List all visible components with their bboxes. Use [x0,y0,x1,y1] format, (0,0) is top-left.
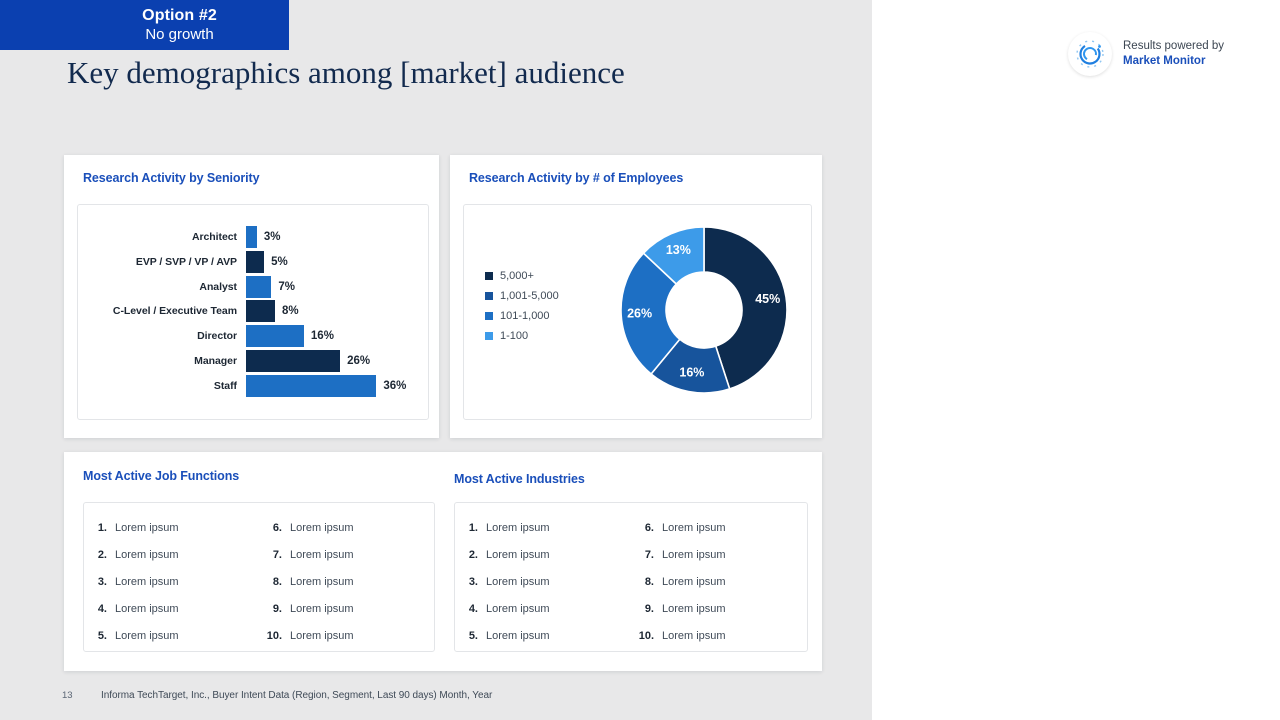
list-item-label: Lorem ipsum [290,576,354,588]
bar-row: C-Level / Executive Team8% [77,300,299,322]
donut-svg: 45%16%26%13% [609,215,799,405]
list-item-label: Lorem ipsum [486,549,550,561]
heading-most-active-industries: Most Active Industries [454,472,585,486]
legend-item: 101-1,000 [485,310,559,322]
list-item-label: Lorem ipsum [290,630,354,642]
list-item-number: 9. [258,603,290,615]
list-item-label: Lorem ipsum [290,549,354,561]
list-item[interactable]: 4.Lorem ipsum [454,595,630,622]
donut-value-label: 16% [679,366,704,380]
rank-column: 1.Lorem ipsum2.Lorem ipsum3.Lorem ipsum4… [83,502,258,650]
list-item[interactable]: 3.Lorem ipsum [454,568,630,595]
powered-by-brand: Market Monitor [1123,54,1224,69]
list-item-label: Lorem ipsum [115,630,179,642]
list-item-label: Lorem ipsum [290,603,354,615]
option-banner: Option #2 No growth [0,0,289,50]
rank-column: 6.Lorem ipsum7.Lorem ipsum8.Lorem ipsum9… [258,502,433,650]
list-item-label: Lorem ipsum [486,576,550,588]
list-item-number: 3. [454,576,486,588]
list-item-number: 2. [83,549,115,561]
list-item-number: 4. [454,603,486,615]
list-item-number: 7. [630,549,662,561]
bar-rect [246,276,271,298]
bar-category-label: Staff [77,380,246,392]
list-item[interactable]: 6.Lorem ipsum [630,514,806,541]
donut-legend: 5,000+1,001-5,000101-1,0001-100 [485,270,559,342]
list-item-label: Lorem ipsum [662,603,726,615]
list-item-label: Lorem ipsum [486,603,550,615]
donut-value-label: 45% [755,292,780,306]
list-item-number: 5. [454,630,486,642]
legend-label: 101-1,000 [500,310,550,322]
legend-item: 5,000+ [485,270,559,282]
list-item-label: Lorem ipsum [662,549,726,561]
option-banner-subtitle: No growth [145,25,213,44]
slide-canvas: Option #2 No growth Key demographics amo… [0,0,872,720]
bar-rect [246,350,340,372]
rank-column: 1.Lorem ipsum2.Lorem ipsum3.Lorem ipsum4… [454,502,630,650]
bar-row: Director16% [77,325,334,347]
heading-research-activity-by-employees: Research Activity by # of Employees [469,171,683,185]
list-item-number: 2. [454,549,486,561]
list-item-label: Lorem ipsum [115,603,179,615]
list-item[interactable]: 9.Lorem ipsum [630,595,806,622]
ranked-list-industries: 1.Lorem ipsum2.Lorem ipsum3.Lorem ipsum4… [454,502,806,650]
bar-rect [246,251,264,273]
bar-value-label: 3% [264,231,281,243]
bar-value-label: 5% [271,256,288,268]
list-item-label: Lorem ipsum [115,522,179,534]
bar-chart-seniority: Architect3%EVP / SVP / VP / AVP5%Analyst… [77,204,427,418]
bar-rect [246,226,257,248]
legend-item: 1-100 [485,330,559,342]
footer-source-note: Informa TechTarget, Inc., Buyer Intent D… [101,690,492,701]
list-item-label: Lorem ipsum [662,576,726,588]
bar-row: EVP / SVP / VP / AVP5% [77,251,288,273]
list-item-number: 4. [83,603,115,615]
powered-by-line1: Results powered by [1123,39,1224,54]
heading-most-active-job-functions: Most Active Job Functions [83,469,239,483]
list-item-number: 9. [630,603,662,615]
list-item-label: Lorem ipsum [115,576,179,588]
list-item-label: Lorem ipsum [115,549,179,561]
bar-category-label: Manager [77,355,246,367]
bar-category-label: Architect [77,231,246,243]
list-item-label: Lorem ipsum [290,522,354,534]
list-item[interactable]: 4.Lorem ipsum [83,595,258,622]
legend-swatch [485,332,493,340]
legend-label: 1,001-5,000 [500,290,559,302]
list-item-label: Lorem ipsum [662,630,726,642]
list-item-label: Lorem ipsum [486,630,550,642]
bar-row: Analyst7% [77,276,295,298]
bar-value-label: 7% [278,281,295,293]
donut-chart-employees: 5,000+1,001-5,000101-1,0001-100 45%16%26… [463,204,810,418]
list-item[interactable]: 3.Lorem ipsum [83,568,258,595]
bar-value-label: 16% [311,330,334,342]
powered-by-badge: Results powered by Market Monitor [1068,32,1224,76]
heading-research-activity-by-seniority: Research Activity by Seniority [83,171,259,185]
footer-page-number: 13 [62,690,73,701]
bar-value-label: 8% [282,305,299,317]
list-item[interactable]: 8.Lorem ipsum [630,568,806,595]
list-item-number: 10. [258,630,290,642]
bar-category-label: EVP / SVP / VP / AVP [77,256,246,268]
bar-rect [246,325,304,347]
legend-swatch [485,272,493,280]
list-item[interactable]: 5.Lorem ipsum [83,622,258,649]
legend-swatch [485,292,493,300]
bar-row: Staff36% [77,375,406,397]
list-item[interactable]: 8.Lorem ipsum [258,568,433,595]
bar-category-label: C-Level / Executive Team [77,305,246,317]
bar-row: Architect3% [77,226,280,248]
bar-rect [246,300,275,322]
list-item[interactable]: 1.Lorem ipsum [454,514,630,541]
list-item-number: 1. [83,522,115,534]
list-item[interactable]: 7.Lorem ipsum [258,541,433,568]
swirl-logo-icon [1068,32,1112,76]
legend-label: 1-100 [500,330,528,342]
list-item[interactable]: 2.Lorem ipsum [83,541,258,568]
option-banner-title: Option #2 [142,7,217,25]
list-item-number: 8. [630,576,662,588]
donut-value-label: 26% [627,306,652,320]
bar-value-label: 26% [347,355,370,367]
list-item[interactable]: 9.Lorem ipsum [258,595,433,622]
list-item-label: Lorem ipsum [662,522,726,534]
list-item-number: 8. [258,576,290,588]
ranked-list-job-functions: 1.Lorem ipsum2.Lorem ipsum3.Lorem ipsum4… [83,502,433,650]
list-item[interactable]: 6.Lorem ipsum [258,514,433,541]
bar-category-label: Director [77,330,246,342]
list-item[interactable]: 5.Lorem ipsum [454,622,630,649]
page-title: Key demographics among [market] audience [67,52,707,93]
legend-swatch [485,312,493,320]
donut-value-label: 13% [666,243,691,257]
list-item-number: 7. [258,549,290,561]
bar-rect [246,375,376,397]
list-item-label: Lorem ipsum [486,522,550,534]
list-item-number: 10. [630,630,662,642]
list-item[interactable]: 1.Lorem ipsum [83,514,258,541]
list-item[interactable]: 7.Lorem ipsum [630,541,806,568]
list-item[interactable]: 10.Lorem ipsum [630,622,806,649]
rank-column: 6.Lorem ipsum7.Lorem ipsum8.Lorem ipsum9… [630,502,806,650]
bar-value-label: 36% [383,380,406,392]
list-item-number: 6. [258,522,290,534]
list-item[interactable]: 10.Lorem ipsum [258,622,433,649]
list-item-number: 5. [83,630,115,642]
legend-item: 1,001-5,000 [485,290,559,302]
list-item-number: 1. [454,522,486,534]
legend-label: 5,000+ [500,270,534,282]
list-item-number: 3. [83,576,115,588]
bar-row: Manager26% [77,350,370,372]
bar-category-label: Analyst [77,281,246,293]
list-item-number: 6. [630,522,662,534]
list-item[interactable]: 2.Lorem ipsum [454,541,630,568]
